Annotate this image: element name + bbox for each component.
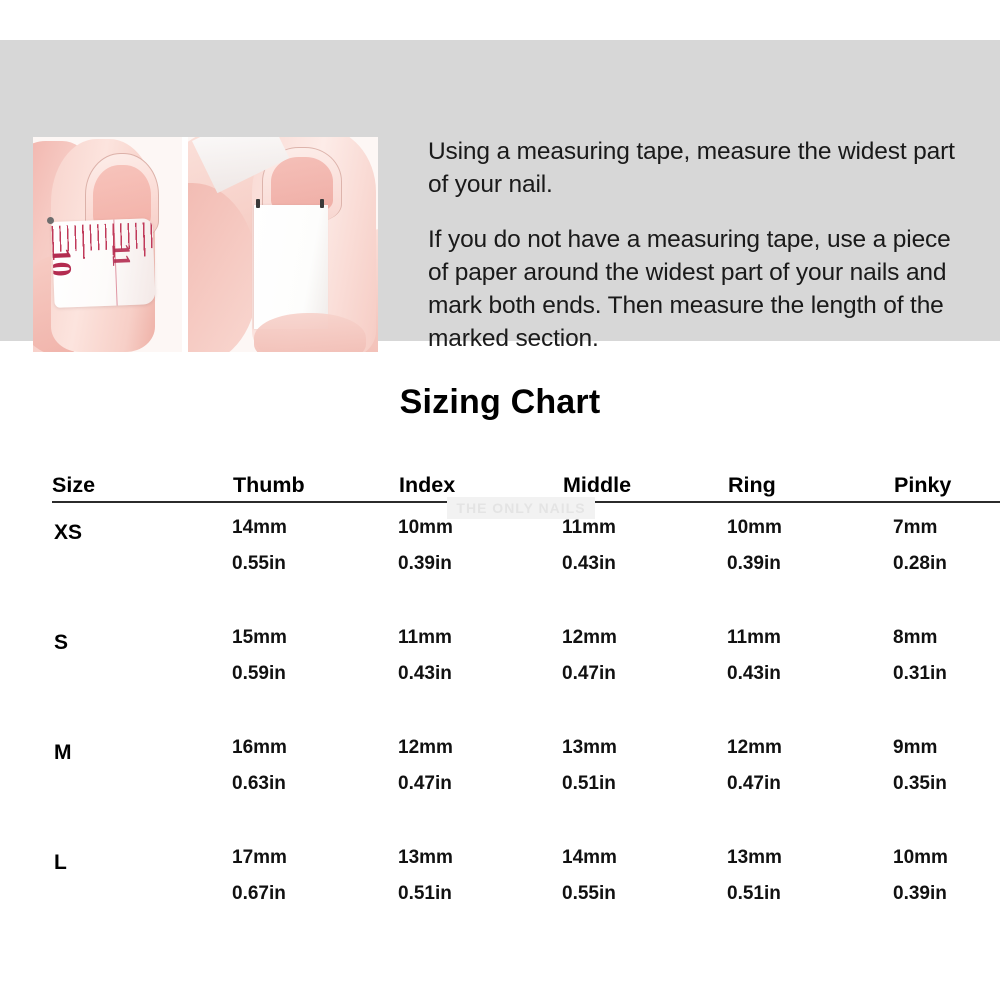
- cell-middle-in: 0.55in: [562, 883, 616, 905]
- cell-thumb-in: 0.55in: [232, 553, 286, 575]
- cell-ring-in: 0.47in: [727, 773, 781, 795]
- table-row: M 16mm 0.63in 12mm 0.47in 13mm 0.51in 12…: [0, 721, 1000, 831]
- cell-middle-mm: 11mm: [562, 517, 616, 539]
- cell-middle-mm: 14mm: [562, 847, 617, 869]
- column-header-pinky: Pinky: [894, 473, 951, 498]
- cell-thumb-mm: 16mm: [232, 737, 287, 759]
- cell-middle-mm: 13mm: [562, 737, 617, 759]
- cell-index-in: 0.47in: [398, 773, 452, 795]
- cell-ring-mm: 11mm: [727, 627, 781, 649]
- row-size-label: XS: [54, 521, 82, 545]
- table-header-row: Size Thumb Index Middle Ring Pinky: [0, 455, 1000, 501]
- cell-thumb-mm: 14mm: [232, 517, 287, 539]
- cell-index-mm: 13mm: [398, 847, 453, 869]
- cell-middle-in: 0.47in: [562, 663, 616, 685]
- table-row: L 17mm 0.67in 13mm 0.51in 14mm 0.55in 13…: [0, 831, 1000, 941]
- cell-index-in: 0.51in: [398, 883, 452, 905]
- cell-ring-in: 0.43in: [727, 663, 781, 685]
- cell-pinky-in: 0.28in: [893, 553, 947, 575]
- cell-ring-in: 0.51in: [727, 883, 781, 905]
- instruction-paragraph-1: Using a measuring tape, measure the wide…: [428, 135, 976, 201]
- instruction-band: 10 11 Usi: [0, 40, 1000, 341]
- cell-pinky-in: 0.35in: [893, 773, 947, 795]
- cell-middle-in: 0.43in: [562, 553, 616, 575]
- cell-pinky-mm: 7mm: [893, 517, 937, 539]
- watermark: THE ONLY NAILS: [447, 497, 595, 519]
- cell-thumb-in: 0.63in: [232, 773, 286, 795]
- instruction-text-block: Using a measuring tape, measure the wide…: [428, 135, 976, 355]
- cell-index-mm: 12mm: [398, 737, 453, 759]
- cell-pinky-mm: 10mm: [893, 847, 948, 869]
- cell-ring-mm: 13mm: [727, 847, 782, 869]
- cell-ring-mm: 12mm: [727, 737, 782, 759]
- row-size-label: L: [54, 851, 67, 875]
- cell-ring-mm: 10mm: [727, 517, 782, 539]
- cell-pinky-in: 0.39in: [893, 883, 947, 905]
- cell-pinky-in: 0.31in: [893, 663, 947, 685]
- cell-pinky-mm: 8mm: [893, 627, 937, 649]
- cell-index-mm: 10mm: [398, 517, 453, 539]
- cell-middle-in: 0.51in: [562, 773, 616, 795]
- row-size-label: S: [54, 631, 68, 655]
- sizing-table: Size Thumb Index Middle Ring Pinky XS 14…: [0, 455, 1000, 941]
- cell-index-mm: 11mm: [398, 627, 452, 649]
- cell-ring-in: 0.39in: [727, 553, 781, 575]
- cell-thumb-in: 0.59in: [232, 663, 286, 685]
- cell-middle-mm: 12mm: [562, 627, 617, 649]
- column-header-thumb: Thumb: [233, 473, 305, 498]
- cell-index-in: 0.39in: [398, 553, 452, 575]
- table-row: S 15mm 0.59in 11mm 0.43in 12mm 0.47in 11…: [0, 611, 1000, 721]
- cell-thumb-mm: 15mm: [232, 627, 287, 649]
- column-header-ring: Ring: [728, 473, 776, 498]
- sizing-chart-page: 10 11 Usi: [0, 0, 1000, 1000]
- paper-mark-left: [256, 199, 260, 208]
- paper-strip: [254, 205, 328, 329]
- chart-title: Sizing Chart: [0, 383, 1000, 422]
- tape-number-label-secondary: 11: [105, 243, 136, 267]
- cell-thumb-in: 0.67in: [232, 883, 286, 905]
- tape-pin-icon: [47, 217, 54, 224]
- measuring-tape: 10 11: [51, 218, 155, 308]
- photo-pane-paper: [188, 137, 378, 352]
- column-header-index: Index: [399, 473, 455, 498]
- cell-pinky-mm: 9mm: [893, 737, 937, 759]
- cell-thumb-mm: 17mm: [232, 847, 287, 869]
- column-header-size: Size: [52, 473, 95, 498]
- photo-pane-tape: 10 11: [33, 137, 182, 352]
- row-size-label: M: [54, 741, 72, 765]
- cell-index-in: 0.43in: [398, 663, 452, 685]
- tape-number-label: 10: [51, 247, 77, 276]
- column-header-middle: Middle: [563, 473, 631, 498]
- measurement-photo: 10 11: [33, 137, 378, 352]
- lower-finger-shape: [254, 313, 366, 352]
- instruction-paragraph-2: If you do not have a measuring tape, use…: [428, 223, 976, 355]
- paper-mark-right: [320, 199, 324, 208]
